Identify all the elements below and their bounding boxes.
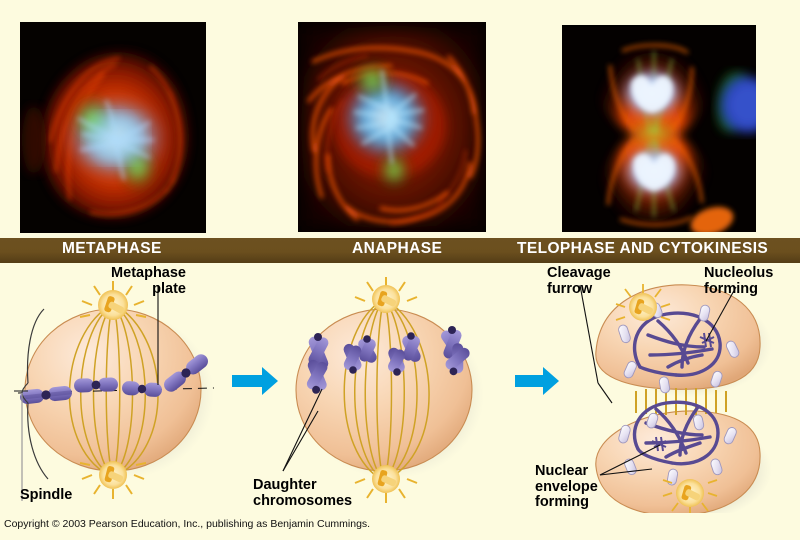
centrosome-top [355,277,417,313]
arrow-metaphase-to-anaphase [232,367,278,395]
figure-root: METAPHASE ANAPHASE TELOPHASE AND CYTOKIN… [0,0,800,540]
telophase-micrograph [562,25,756,232]
phase-label-telophase-cytokinesis: TELOPHASE AND CYTOKINESIS [517,240,768,258]
phase-label-metaphase: METAPHASE [62,240,162,258]
anaphase-micrograph [298,22,486,232]
label-cleavage-furrow: Cleavage furrow [547,266,611,297]
label-spindle: Spindle [20,488,72,504]
phase-label-bar: METAPHASE ANAPHASE TELOPHASE AND CYTOKIN… [0,238,800,263]
anaphase-cell-diagram [296,277,484,503]
cell-diagrams [0,263,800,513]
arrow-anaphase-to-telophase [515,367,559,395]
metaphase-micrograph [20,22,206,233]
phase-label-anaphase: ANAPHASE [352,240,442,258]
label-nuclear-envelope-forming: Nuclear envelope forming [535,464,598,511]
label-nucleolus-forming: Nucleolus forming [704,266,773,297]
label-metaphase-plate: Metaphase plate [60,266,186,297]
telophase-cell-diagram [596,284,772,513]
label-daughter-chromosomes: Daughter chromosomes [253,478,352,509]
metaphase-cell-diagram [14,281,214,501]
copyright-notice: Copyright © 2003 Pearson Education, Inc.… [4,518,370,530]
